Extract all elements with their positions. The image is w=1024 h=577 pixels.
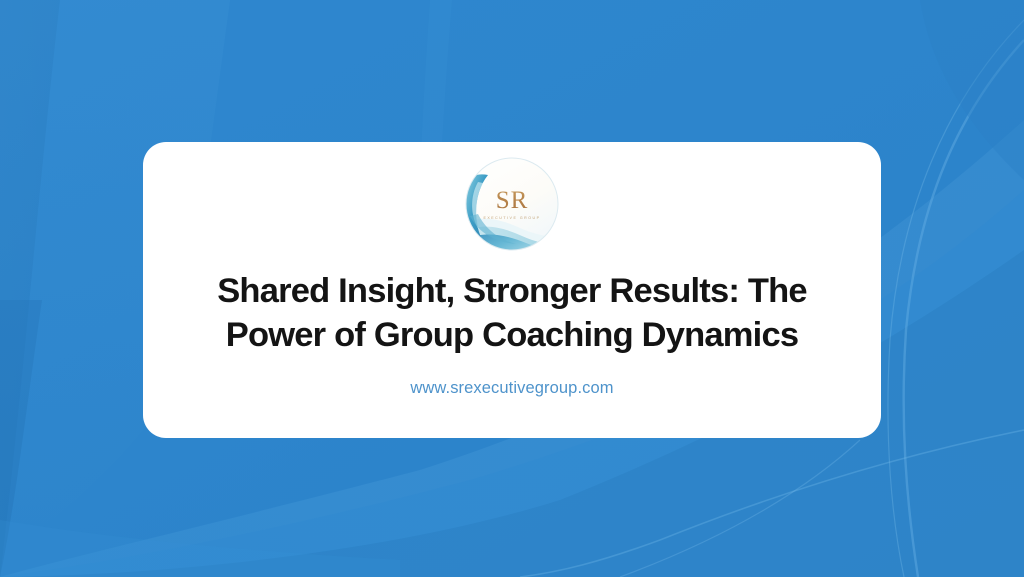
logo-subtitle-text: EXECUTIVE GROUP [483, 216, 540, 220]
sr-executive-group-logo-icon: SR EXECUTIVE GROUP [464, 156, 560, 252]
logo-monogram-text: SR [496, 187, 529, 214]
slide-canvas: SR EXECUTIVE GROUP Shared Insight, Stron… [0, 0, 1024, 577]
website-url[interactable]: www.srexecutivegroup.com [410, 379, 613, 398]
content-card: SR EXECUTIVE GROUP Shared Insight, Stron… [143, 142, 881, 438]
headline-line-1: Shared Insight, Stronger Results: The [182, 269, 842, 313]
headline-line-2: Power of Group Coaching Dynamics [182, 313, 842, 357]
logo: SR EXECUTIVE GROUP [464, 156, 560, 252]
headline: Shared Insight, Stronger Results: The Po… [182, 269, 842, 357]
